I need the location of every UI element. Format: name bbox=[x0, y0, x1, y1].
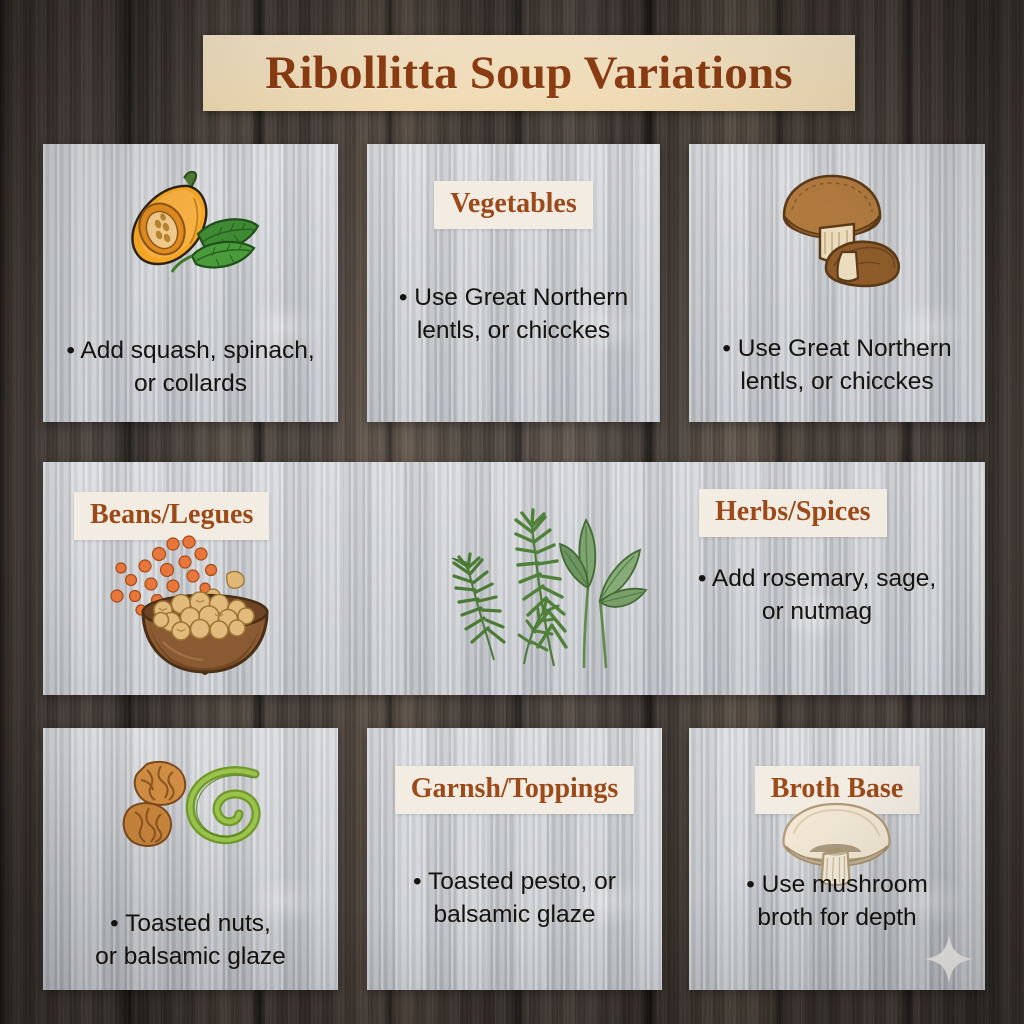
card-heading-garnish-toppings: Garnsh/Toppings bbox=[395, 766, 635, 814]
card-nuts-glaze[interactable]: • Toasted nuts, or balsamic glaze bbox=[43, 728, 338, 990]
card-squash-greens[interactable]: • Add squash, spinach, or collards bbox=[43, 144, 338, 422]
chickpea-bowl-lentils-illustration bbox=[101, 530, 311, 680]
card-bullet-text: • Add squash, spinach, or collards bbox=[52, 334, 328, 401]
card-band-beans-herbs[interactable]: Beans/Legues bbox=[43, 462, 985, 695]
title-banner: Ribollitta Soup Variations bbox=[203, 35, 855, 111]
card-bullet-text: • Use Great Northern lentls, or chicckes bbox=[385, 281, 642, 348]
card-mushroom-beans[interactable]: • Use Great Northern lentls, or chicckes bbox=[689, 144, 985, 422]
sparkle-star-icon bbox=[923, 933, 975, 985]
card-bullet-text: • Toasted nuts, or balsamic glaze bbox=[81, 907, 300, 974]
cremini-mushroom-illustration bbox=[762, 166, 912, 291]
card-heading-vegetables: Vegetables bbox=[434, 181, 593, 229]
card-bullet-text: • Use mushroom broth for depth bbox=[689, 868, 985, 935]
page-title: Ribollitta Soup Variations bbox=[265, 46, 793, 100]
card-bullet-text: • Toasted pesto, or balsamic glaze bbox=[399, 865, 630, 932]
card-garnish-toppings[interactable]: Garnsh/Toppings • Toasted pesto, or bals… bbox=[367, 728, 662, 990]
walnuts-pesto-swirl-illustration bbox=[111, 752, 271, 857]
card-bullet-text: • Use Great Northern lentls, or chicckes bbox=[708, 332, 965, 399]
rosemary-sage-illustration bbox=[428, 492, 658, 672]
card-broth-base[interactable]: Broth Base • Use mushroom broth for dept… bbox=[689, 728, 985, 990]
card-vegetables[interactable]: Vegetables • Use Great Northern lentls, … bbox=[367, 144, 660, 422]
squash-spinach-illustration bbox=[106, 168, 276, 288]
card-heading-herbs-spices: Herbs/Spices bbox=[699, 489, 887, 537]
card-bullet-text: • Add rosemary, sage, or nutmag bbox=[653, 562, 981, 629]
